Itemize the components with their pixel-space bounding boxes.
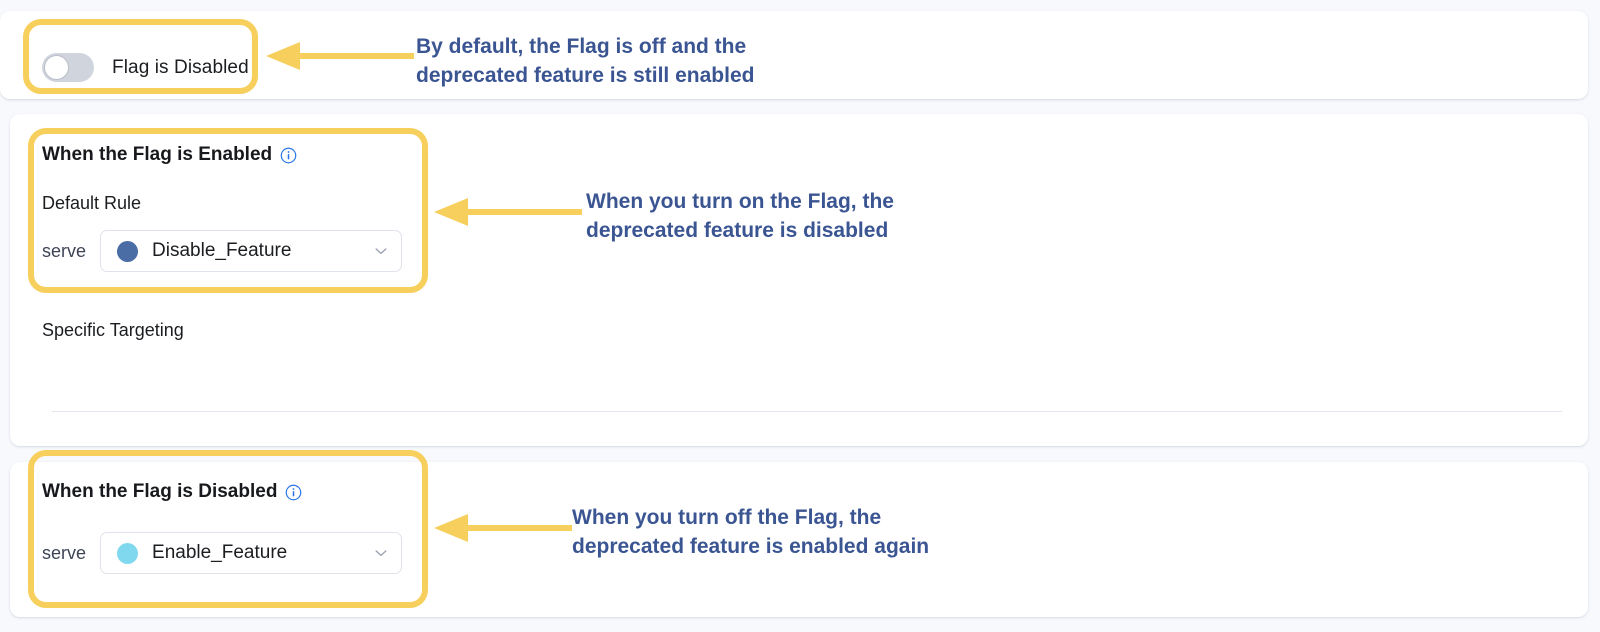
when-flag-enabled-title-text: When the Flag is Enabled [42, 144, 272, 166]
annotation-text-default-off: By default, the Flag is off and the depr… [416, 32, 754, 91]
left-arrow-annotation [432, 196, 582, 228]
variation-color-dot [117, 543, 138, 564]
left-arrow-annotation [432, 512, 572, 544]
when-flag-disabled-title: When the Flag is Disabled [42, 481, 302, 503]
default-rule-label: Default Rule [42, 193, 141, 214]
when-flag-enabled-title: When the Flag is Enabled [42, 144, 297, 166]
when-flag-disabled-title-text: When the Flag is Disabled [42, 481, 277, 503]
default-rule-variation-select[interactable]: Disable_Feature [100, 230, 402, 272]
off-variation-value: Enable_Feature [152, 542, 359, 564]
specific-targeting-label: Specific Targeting [42, 320, 184, 341]
variation-color-dot [117, 241, 138, 262]
flag-toggle-card: Flag is Disabled [0, 11, 1588, 99]
annotation-text-flag-off: When you turn off the Flag, the deprecat… [572, 503, 929, 562]
screenshot-stage: Flag is Disabled When the Flag is Enable… [0, 0, 1600, 632]
flag-toggle[interactable] [42, 53, 94, 82]
flag-enabled-card: When the Flag is Enabled Default Rule se… [10, 114, 1588, 446]
flag-toggle-label: Flag is Disabled [112, 57, 249, 79]
chevron-down-icon[interactable] [373, 243, 389, 259]
default-rule-variation-value: Disable_Feature [152, 240, 359, 262]
off-variation-select[interactable]: Enable_Feature [100, 532, 402, 574]
toggle-knob [44, 55, 69, 80]
off-variation-serve-row: serve Enable_Feature [42, 532, 402, 574]
section-divider [52, 411, 1562, 412]
serve-label: serve [42, 543, 86, 564]
serve-label: serve [42, 241, 86, 262]
chevron-down-icon[interactable] [373, 545, 389, 561]
annotation-text-flag-on: When you turn on the Flag, the deprecate… [586, 187, 894, 246]
default-rule-serve-row: serve Disable_Feature [42, 230, 402, 272]
info-circle-icon[interactable] [285, 484, 302, 501]
left-arrow-annotation [264, 40, 414, 72]
info-circle-icon[interactable] [280, 147, 297, 164]
flag-toggle-row[interactable]: Flag is Disabled [42, 53, 249, 82]
